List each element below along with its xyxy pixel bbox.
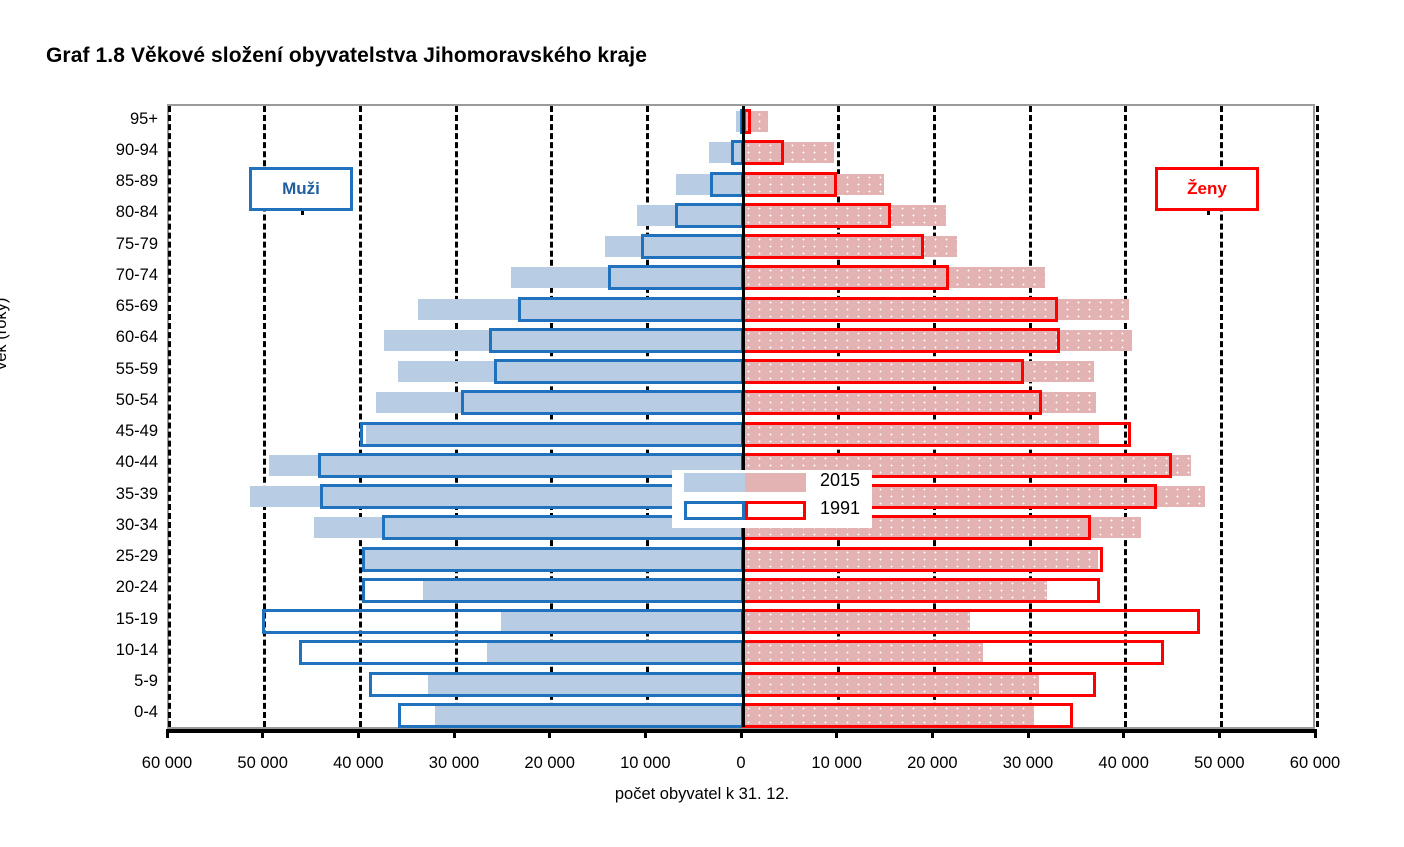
y-tick-label: 65-69	[38, 298, 158, 314]
x-tick-label: 60 000	[1255, 754, 1375, 773]
chart-title: Graf 1.8 Věkové složení obyvatelstva Jih…	[46, 44, 647, 68]
y-axis-title: věk (roky)	[0, 298, 11, 370]
bar-female-1991	[741, 578, 1100, 603]
bar-male-1991	[710, 172, 745, 197]
x-tick-mark	[1122, 729, 1125, 738]
legend-swatch-filled	[684, 473, 806, 492]
y-tick-label: 95+	[38, 111, 158, 127]
bar-male-1991	[641, 234, 745, 259]
bar-male-1991	[262, 609, 745, 634]
y-tick-label: 20-24	[38, 579, 158, 595]
bar-female-1991	[741, 703, 1073, 728]
bar-female-1991	[741, 172, 837, 197]
x-tick-mark	[548, 729, 551, 738]
bar-female-1991	[741, 265, 949, 290]
bar-male-1991	[608, 265, 745, 290]
x-tick-mark	[453, 729, 456, 738]
chart-legend: 2015 1991	[672, 470, 872, 528]
x-tick-mark	[166, 729, 169, 738]
y-tick-label: 85-89	[38, 173, 158, 189]
legend-swatch-female-1991	[745, 501, 806, 520]
x-tick-mark	[644, 729, 647, 738]
x-tick-mark	[1027, 729, 1030, 738]
bar-male-1991	[362, 547, 745, 572]
bar-male-1991	[369, 672, 745, 697]
y-tick-label: 30-34	[38, 517, 158, 533]
x-tick-mark	[931, 729, 934, 738]
bar-female-1991	[741, 547, 1103, 572]
y-tick-label: 55-59	[38, 361, 158, 377]
x-axis-title: počet obyvatel k 31. 12.	[0, 785, 1404, 804]
gridline	[1316, 106, 1319, 727]
bar-female-1991	[741, 234, 924, 259]
bar-female-1991	[741, 640, 1164, 665]
bar-male-1991	[518, 297, 745, 322]
y-tick-label: 75-79	[38, 236, 158, 252]
bar-male-1991	[489, 328, 745, 353]
x-tick-mark	[740, 729, 743, 738]
bar-female-1991	[741, 422, 1131, 447]
x-tick-mark	[261, 729, 264, 738]
men-callout: Muži	[249, 167, 353, 211]
legend-entry-2015: 2015	[672, 470, 872, 496]
bar-male-1991	[360, 422, 745, 447]
y-tick-label: 25-29	[38, 548, 158, 564]
x-tick-mark	[835, 729, 838, 738]
y-tick-label: 15-19	[38, 611, 158, 627]
bar-female-1991	[741, 328, 1060, 353]
y-tick-label: 0-4	[38, 704, 158, 720]
legend-swatch-male-2015	[684, 473, 745, 492]
axis-zero-line	[742, 106, 745, 727]
legend-swatch-outlined	[684, 501, 806, 520]
legend-label-2015: 2015	[820, 470, 860, 491]
legend-label-1991: 1991	[820, 498, 860, 519]
y-tick-label: 40-44	[38, 454, 158, 470]
bar-male-1991	[461, 390, 745, 415]
legend-swatch-male-1991	[684, 501, 745, 520]
y-tick-label: 50-54	[38, 392, 158, 408]
bar-male-1991	[299, 640, 745, 665]
y-tick-label: 35-39	[38, 486, 158, 502]
y-tick-label: 70-74	[38, 267, 158, 283]
y-tick-label: 5-9	[38, 673, 158, 689]
legend-entry-1991: 1991	[672, 498, 872, 524]
bar-female-1991	[741, 609, 1200, 634]
bar-female-1991	[741, 203, 891, 228]
bar-male-1991	[675, 203, 745, 228]
x-tick-mark	[1218, 729, 1221, 738]
bar-male-1991	[398, 703, 745, 728]
bar-female-1991	[741, 140, 784, 165]
bar-female-1991	[741, 672, 1096, 697]
y-tick-label: 90-94	[38, 142, 158, 158]
women-callout: Ženy	[1155, 167, 1259, 211]
y-tick-label: 10-14	[38, 642, 158, 658]
legend-swatch-female-2015	[745, 473, 806, 492]
x-tick-mark	[1314, 729, 1317, 738]
y-tick-label: 60-64	[38, 329, 158, 345]
bar-female-1991	[741, 297, 1058, 322]
bar-female-1991	[741, 390, 1042, 415]
y-tick-label: 80-84	[38, 204, 158, 220]
y-tick-label: 45-49	[38, 423, 158, 439]
bar-female-1991	[741, 359, 1024, 384]
bar-male-1991	[494, 359, 745, 384]
bar-male-1991	[362, 578, 745, 603]
x-tick-mark	[357, 729, 360, 738]
